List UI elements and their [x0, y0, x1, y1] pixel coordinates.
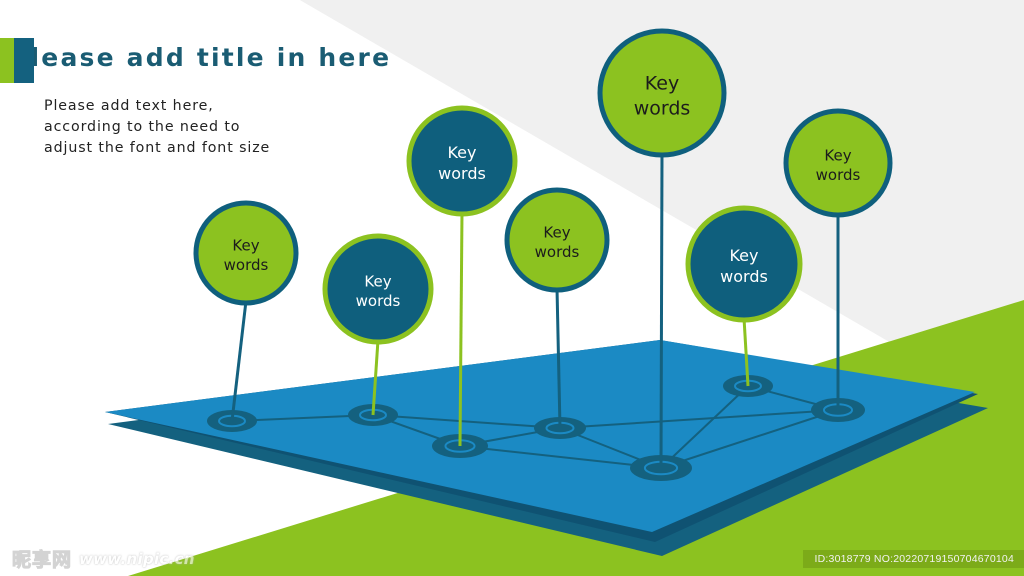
balloon-5-stem	[661, 153, 662, 468]
balloon-bubble-group: KeywordsKeywordsKeywordsKeywordsKeywords…	[196, 31, 890, 342]
watermark-logo-text: 昵享网	[12, 545, 72, 572]
watermark: 昵享网 www.nipic.cn	[12, 545, 195, 572]
title-accent-green	[0, 38, 14, 83]
balloon-4[interactable]: Keywords	[507, 190, 607, 290]
balloon-6-stem	[744, 318, 748, 386]
page-title: Please add title in here	[10, 43, 391, 72]
balloon-4-stem	[557, 288, 560, 428]
watermark-url: www.nipic.cn	[79, 550, 195, 568]
title-accent-navy	[14, 38, 34, 83]
balloon-1[interactable]: Keywords	[196, 203, 296, 303]
balloon-7[interactable]: Keywords	[786, 111, 890, 215]
slide-canvas: KeywordsKeywordsKeywordsKeywordsKeywords…	[0, 0, 1024, 576]
balloon-5[interactable]: Keywords	[600, 31, 724, 155]
balloon-2-stem	[373, 340, 378, 415]
body-text: Please add text here, according to the n…	[44, 96, 289, 159]
balloon-2[interactable]: Keywords	[325, 236, 431, 342]
balloon-3[interactable]: Keywords	[409, 108, 515, 214]
image-id-badge: ID:3018779 NO:20220719150704670104	[803, 550, 1024, 568]
balloon-1-stem	[232, 301, 246, 421]
title-accent-block	[0, 38, 34, 83]
balloon-layer: KeywordsKeywordsKeywordsKeywordsKeywords…	[0, 0, 1024, 576]
balloon-6[interactable]: Keywords	[688, 208, 800, 320]
balloon-3-stem	[460, 212, 462, 446]
